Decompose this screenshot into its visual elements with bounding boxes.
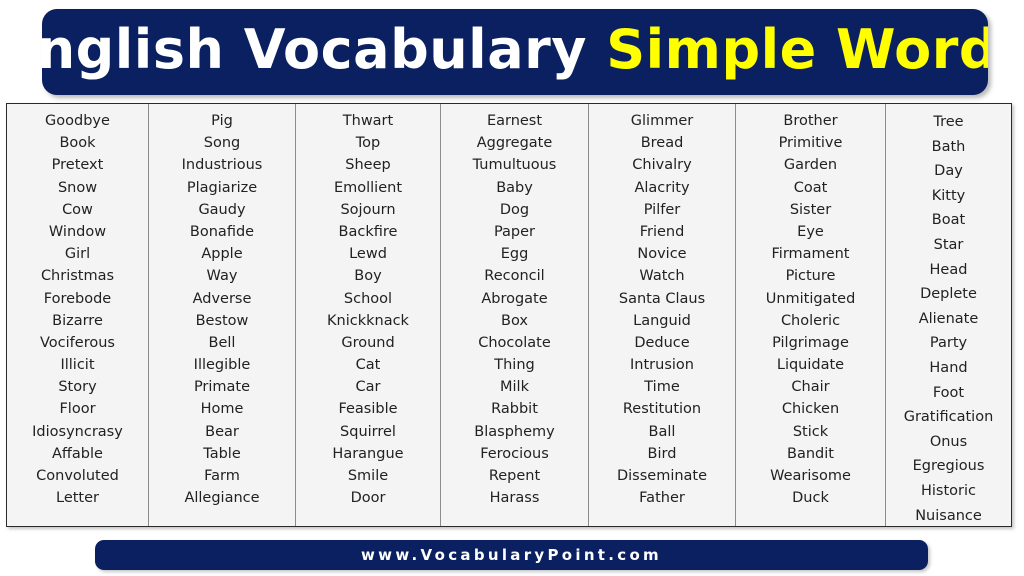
word-item: Duck [740,487,881,509]
word-item: Glimmer [593,110,731,132]
word-item: Apple [153,243,291,265]
word-item: Farm [153,465,291,487]
word-item: Alienate [890,307,1007,332]
word-item: Bonafide [153,221,291,243]
word-item: Box [445,310,584,332]
word-item: Squirrel [300,421,436,443]
word-item: Boy [300,265,436,287]
word-item: Christmas [11,265,144,287]
word-item: Intrusion [593,354,731,376]
word-item: Chocolate [445,332,584,354]
word-item: Alacrity [593,177,731,199]
word-item: Book [11,132,144,154]
word-item: Languid [593,310,731,332]
word-item: Reconcil [445,265,584,287]
word-item: Picture [740,265,881,287]
word-item: Door [300,487,436,509]
word-item: Earnest [445,110,584,132]
word-item: Repent [445,465,584,487]
word-item: Watch [593,265,731,287]
word-item: Novice [593,243,731,265]
word-item: Chivalry [593,154,731,176]
word-item: Stick [740,421,881,443]
word-item: Gratification [890,405,1007,430]
word-item: Industrious [153,154,291,176]
word-item: Foot [890,381,1007,406]
word-item: Car [300,376,436,398]
page-title: English Vocabulary Simple Words [42,23,988,81]
word-item: Cow [11,199,144,221]
word-item: Chicken [740,398,881,420]
word-item: Backfire [300,221,436,243]
word-item: Santa Claus [593,288,731,310]
word-item: Wearisome [740,465,881,487]
word-item: Brother [740,110,881,132]
word-item: Ground [300,332,436,354]
word-item: Head [890,258,1007,283]
word-item: Floor [11,398,144,420]
word-column-5: GlimmerBreadChivalryAlacrityPilferFriend… [589,104,736,526]
word-item: Bread [593,132,731,154]
word-item: Milk [445,376,584,398]
footer-banner[interactable]: www.VocabularyPoint.com [95,540,928,570]
word-item: Sheep [300,154,436,176]
word-item: Convoluted [11,465,144,487]
word-item: Time [593,376,731,398]
page-title-highlight: Simple Words [606,18,988,81]
word-item: Kitty [890,184,1007,209]
word-item: Vociferous [11,332,144,354]
word-item: Father [593,487,731,509]
word-item: Firmament [740,243,881,265]
word-item: Illegible [153,354,291,376]
word-item: Home [153,398,291,420]
word-item: Pig [153,110,291,132]
word-item: Lewd [300,243,436,265]
word-item: Song [153,132,291,154]
word-column-6: BrotherPrimitiveGardenCoatSisterEyeFirma… [736,104,886,526]
word-item: Thing [445,354,584,376]
word-item: Day [890,159,1007,184]
word-item: Egg [445,243,584,265]
word-item: Hand [890,356,1007,381]
word-item: Boat [890,208,1007,233]
word-item: Baby [445,177,584,199]
word-item: Letter [11,487,144,509]
header-banner: English Vocabulary Simple Words [42,9,988,95]
word-item: Aggregate [445,132,584,154]
word-item: Goodbye [11,110,144,132]
word-item: Star [890,233,1007,258]
word-item: Idiosyncrasy [11,421,144,443]
word-item: Affable [11,443,144,465]
word-item: Way [153,265,291,287]
word-item: Feasible [300,398,436,420]
word-item: Top [300,132,436,154]
word-item: Bird [593,443,731,465]
word-item: Friend [593,221,731,243]
word-item: Tumultuous [445,154,584,176]
word-item: Chair [740,376,881,398]
word-item: Forebode [11,288,144,310]
word-item: Unmitigated [740,288,881,310]
word-column-3: ThwartTopSheepEmollientSojournBackfireLe… [296,104,441,526]
vocabulary-table: GoodbyeBookPretextSnowCowWindowGirlChris… [6,103,1012,527]
word-item: Dog [445,199,584,221]
word-item: Thwart [300,110,436,132]
word-item: Sister [740,199,881,221]
website-url[interactable]: www.VocabularyPoint.com [361,546,662,564]
word-item: Harangue [300,443,436,465]
word-column-7: TreeBathDayKittyBoatStarHeadDepleteAlien… [886,104,1011,526]
word-item: Egregious [890,454,1007,479]
word-item: Rabbit [445,398,584,420]
word-item: Restitution [593,398,731,420]
word-item: Liquidate [740,354,881,376]
word-item: Tree [890,110,1007,135]
word-item: Window [11,221,144,243]
word-item: Nuisance [890,504,1007,527]
word-item: Bizarre [11,310,144,332]
word-item: Bestow [153,310,291,332]
word-item: Plagiarize [153,177,291,199]
word-item: Sojourn [300,199,436,221]
word-item: Girl [11,243,144,265]
word-item: Adverse [153,288,291,310]
word-item: School [300,288,436,310]
word-item: Blasphemy [445,421,584,443]
word-item: Ferocious [445,443,584,465]
word-item: Primitive [740,132,881,154]
word-item: Cat [300,354,436,376]
word-item: Knickknack [300,310,436,332]
word-item: Harass [445,487,584,509]
word-item: Bath [890,135,1007,160]
word-item: Party [890,331,1007,356]
word-item: Table [153,443,291,465]
word-item: Primate [153,376,291,398]
word-item: Gaudy [153,199,291,221]
word-item: Garden [740,154,881,176]
word-item: Deplete [890,282,1007,307]
word-item: Smile [300,465,436,487]
word-item: Abrogate [445,288,584,310]
word-column-1: GoodbyeBookPretextSnowCowWindowGirlChris… [7,104,149,526]
word-item: Bell [153,332,291,354]
word-item: Snow [11,177,144,199]
word-item: Emollient [300,177,436,199]
word-item: Story [11,376,144,398]
word-item: Bear [153,421,291,443]
word-item: Historic [890,479,1007,504]
word-item: Pretext [11,154,144,176]
page-title-primary: English Vocabulary [42,18,606,81]
word-item: Allegiance [153,487,291,509]
word-item: Pilgrimage [740,332,881,354]
word-item: Deduce [593,332,731,354]
word-column-4: EarnestAggregateTumultuousBabyDogPaperEg… [441,104,589,526]
word-item: Eye [740,221,881,243]
word-item: Disseminate [593,465,731,487]
word-item: Choleric [740,310,881,332]
word-item: Paper [445,221,584,243]
word-item: Pilfer [593,199,731,221]
word-item: Ball [593,421,731,443]
word-item: Bandit [740,443,881,465]
word-item: Coat [740,177,881,199]
word-column-2: PigSongIndustriousPlagiarizeGaudyBonafid… [149,104,296,526]
word-item: Onus [890,430,1007,455]
word-item: Illicit [11,354,144,376]
